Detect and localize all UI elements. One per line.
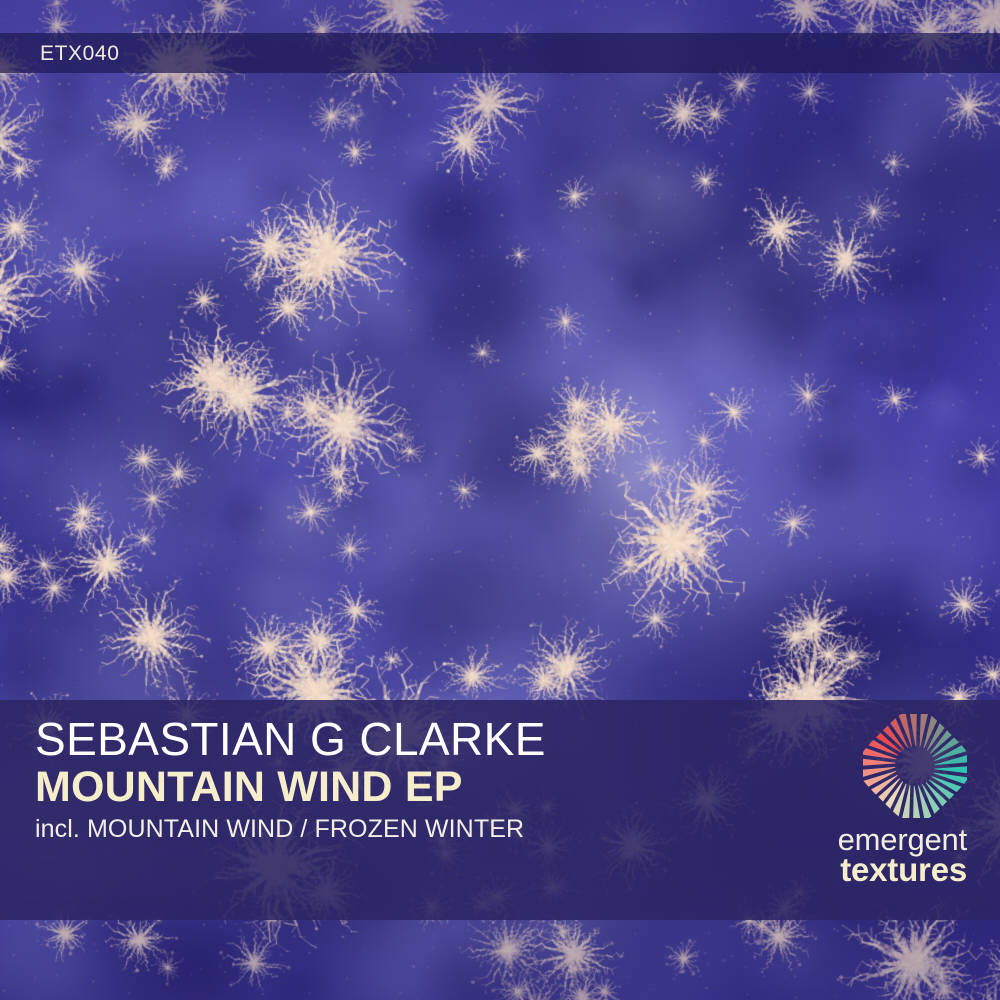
artist-name: SEBASTIAN G CLARKE — [35, 716, 546, 763]
catalog-number-band: ETX040 — [0, 33, 1000, 73]
label-lockup: emergent textures — [838, 714, 967, 886]
catalog-number: ETX040 — [40, 43, 119, 64]
release-title: MOUNTAIN WIND EP — [35, 764, 546, 810]
album-cover: ETX040 SEBASTIAN G CLARKE MOUNTAIN WIND … — [0, 0, 1000, 1000]
tracklist: incl. MOUNTAIN WIND / FROZEN WINTER — [35, 814, 546, 844]
label-wordmark: emergent textures — [838, 824, 967, 886]
release-credits: SEBASTIAN G CLARKE MOUNTAIN WIND EP incl… — [35, 716, 546, 844]
emergent-textures-logo-icon — [863, 714, 967, 818]
credits-banner: SEBASTIAN G CLARKE MOUNTAIN WIND EP incl… — [0, 700, 1000, 920]
label-name-bottom: textures — [838, 853, 967, 886]
